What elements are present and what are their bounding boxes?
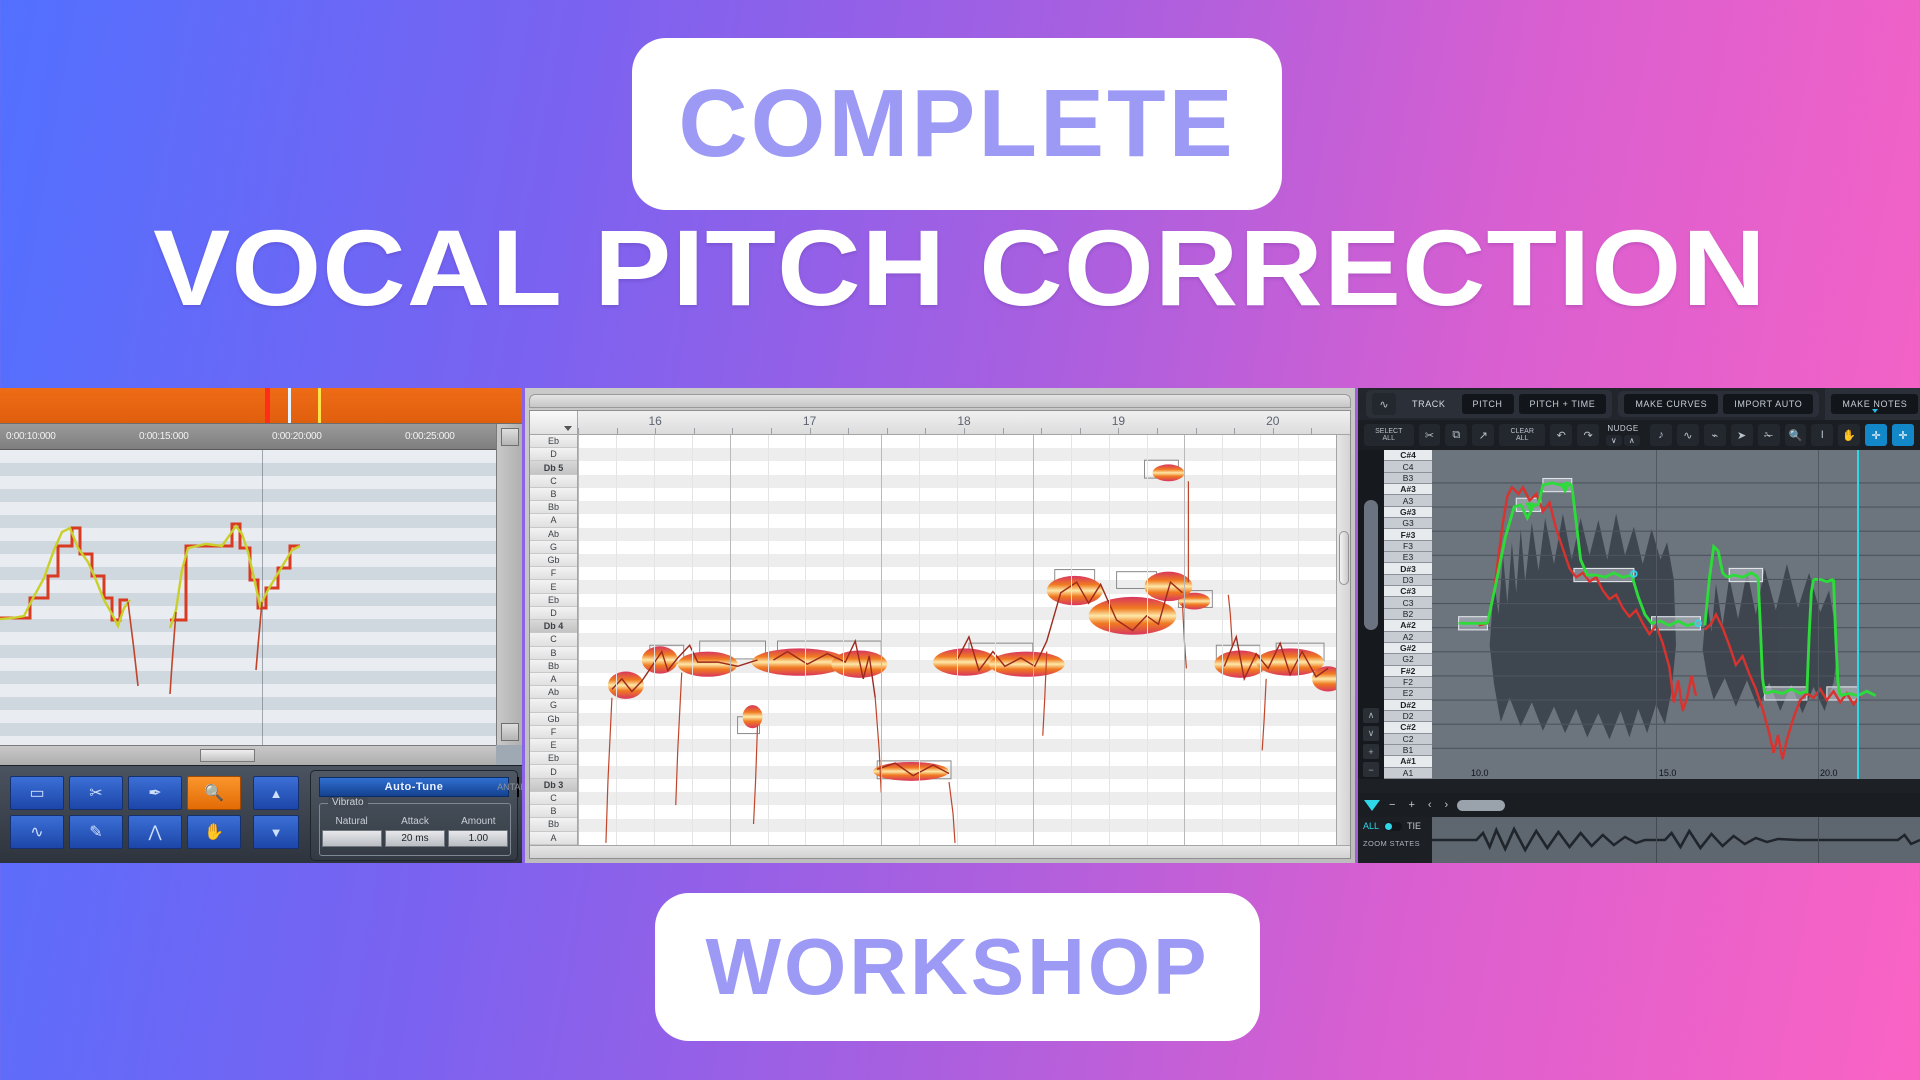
- beat-line: [805, 435, 806, 845]
- ruler-tick: [655, 428, 656, 434]
- beat-line: [692, 435, 693, 845]
- piano-key-asharp1[interactable]: A#1: [1384, 756, 1432, 767]
- waves-tune-vertical-scrollbar[interactable]: ∧ ∨ + −: [1358, 450, 1384, 779]
- beat-line: [957, 435, 958, 845]
- grid-divider: [1656, 817, 1657, 863]
- piano-key-dsharp3[interactable]: D#3: [1384, 563, 1432, 574]
- scrollbar-thumb[interactable]: [1339, 531, 1349, 585]
- piano-key-b[interactable]: B: [530, 647, 577, 660]
- ruler-tick: [1003, 428, 1004, 434]
- beat-line: [1071, 435, 1072, 845]
- hand-tool-icon[interactable]: ✋: [1838, 424, 1860, 446]
- piano-key-fsharp3[interactable]: F#3: [1384, 529, 1432, 540]
- bar-number: 18: [957, 414, 970, 428]
- piano-key-d[interactable]: D: [530, 607, 577, 620]
- ruler-tick: [1080, 428, 1081, 434]
- waveform-side-controls: ALL TIE ZOOM STATES: [1358, 817, 1432, 863]
- import-auto-button[interactable]: IMPORT AUTO: [1723, 394, 1813, 414]
- piano-key-a[interactable]: A: [530, 673, 577, 686]
- timecode-3: 0:00:20:000: [272, 431, 322, 442]
- playhead[interactable]: [1857, 450, 1859, 779]
- piano-key-d2[interactable]: D2: [1384, 711, 1432, 722]
- zoom-in-button[interactable]: +: [1363, 744, 1379, 759]
- track-label: TRACK: [1401, 394, 1457, 414]
- scroll-up-arrow[interactable]: [501, 428, 519, 446]
- zoom-states-label[interactable]: ZOOM STATES: [1363, 839, 1427, 848]
- vibrato-natural-control[interactable]: Natural: [322, 816, 382, 847]
- grid-divider: [1818, 817, 1819, 863]
- nudge-down-button[interactable]: ∨: [1606, 435, 1622, 446]
- scrollbar-thumb[interactable]: [1364, 500, 1378, 630]
- ruler-tick: [1118, 428, 1119, 434]
- auto-tune-ruler[interactable]: 0:00:10:000 0:00:15:000 0:00:20:000 0:00…: [0, 424, 522, 450]
- piano-key-a2[interactable]: A2: [1384, 632, 1432, 643]
- auto-tune-toolbar: ▭ ✂ ✒ 🔍 ∿ ✎ ⋀ ✋: [10, 776, 241, 849]
- undo-icon[interactable]: ↶: [1550, 424, 1572, 446]
- piano-key-gsharp3[interactable]: G#3: [1384, 507, 1432, 518]
- auto-tune-tool-panel: ▭ ✂ ✒ 🔍 ∿ ✎ ⋀ ✋ ▲ ▼ Auto-Tune ANTARES Vi…: [0, 765, 522, 863]
- bar-line: [881, 435, 882, 845]
- auto-tune-pane[interactable]: 0:00:10:000 0:00:15:000 0:00:20:000 0:00…: [0, 388, 522, 863]
- nudge-up-button[interactable]: ∧: [1624, 435, 1640, 446]
- auto-tune-vertical-scrollbar[interactable]: [496, 424, 522, 745]
- piano-key-eb[interactable]: Eb: [530, 435, 577, 448]
- waves-tune-waveform-strip: ALL TIE ZOOM STATES: [1358, 817, 1920, 863]
- vibrato-attack-control[interactable]: Attack 20 ms: [385, 816, 445, 847]
- redo-icon[interactable]: ↷: [1577, 424, 1599, 446]
- ruler-tick: [848, 428, 849, 434]
- vibrato-amount-label: Amount: [448, 816, 508, 827]
- bar-line: [1033, 435, 1034, 845]
- piano-key-c[interactable]: C: [530, 475, 577, 488]
- waves-tune-pane[interactable]: ∿ TRACK PITCH PITCH + TIME MAKE CURVES I…: [1358, 388, 1920, 863]
- auto-tune-pitch-grid[interactable]: [0, 450, 496, 745]
- piano-key-asharp2[interactable]: A#2: [1384, 620, 1432, 631]
- auto-tune-right-panel: Auto-Tune ANTARES Vibrato Natural Attack…: [310, 770, 518, 861]
- ruler-tick: [771, 428, 772, 434]
- scroll-down-arrow[interactable]: [501, 723, 519, 741]
- piano-key-f[interactable]: F: [530, 567, 577, 580]
- piano-key-e3[interactable]: E3: [1384, 552, 1432, 563]
- melodyne-horizontal-scrollbar[interactable]: [530, 845, 1350, 858]
- node-tool-icon[interactable]: ⋀: [128, 815, 182, 849]
- timecode-1: 0:00:10:000: [6, 431, 56, 442]
- beat-line: [995, 435, 996, 845]
- beat-line: [1260, 435, 1261, 845]
- bar-number: 20: [1266, 414, 1279, 428]
- piano-key-b3[interactable]: B3: [1384, 473, 1432, 484]
- piano-key-d3[interactable]: D3: [1384, 575, 1432, 586]
- grid-divider: [1656, 450, 1657, 779]
- melodyne-window: 1617181920 EbDDb 5CBBbAAbGGbFEEbDDb 4CBB…: [525, 388, 1355, 863]
- ruler-tick: [1311, 428, 1312, 434]
- ruler-tick: [694, 428, 695, 434]
- vibrato-amount-control[interactable]: Amount 1.00: [448, 816, 508, 847]
- select-all-button[interactable]: SELECT ALL: [1364, 424, 1414, 446]
- piano-key-asharp3[interactable]: A#3: [1384, 484, 1432, 495]
- piano-key-dsharp2[interactable]: D#2: [1384, 700, 1432, 711]
- piano-key-g[interactable]: G: [530, 699, 577, 712]
- beat-line: [768, 435, 769, 845]
- beat-line: [1222, 435, 1223, 845]
- zoom-out-button[interactable]: −: [1385, 799, 1399, 811]
- timecode-4: 0:00:25:000: [405, 431, 455, 442]
- piano-key-a3[interactable]: A3: [1384, 495, 1432, 506]
- piano-key-c2[interactable]: C2: [1384, 734, 1432, 745]
- bar-line: [730, 435, 731, 845]
- piano-key-bb[interactable]: Bb: [530, 818, 577, 831]
- export-icon[interactable]: ↗: [1472, 424, 1494, 446]
- melodyne-vertical-scrollbar[interactable]: [1336, 435, 1350, 845]
- region-marker-yellow: [318, 388, 321, 423]
- piano-key-f[interactable]: F: [530, 726, 577, 739]
- page-title: VOCAL PITCH CORRECTION: [0, 214, 1920, 322]
- ruler-tick: [617, 428, 618, 434]
- auto-tune-timeline-bar[interactable]: [0, 388, 522, 424]
- ruler-tick: [1041, 428, 1042, 434]
- ruler-tick: [578, 428, 579, 434]
- nudge-down-button[interactable]: ▼: [253, 815, 299, 849]
- time-label-2: 15.0: [1659, 768, 1677, 778]
- badge-complete: COMPLETE: [632, 38, 1282, 210]
- scroll-right-button[interactable]: ›: [1441, 799, 1453, 811]
- melodyne-ruler[interactable]: 1617181920: [530, 411, 1350, 435]
- piano-key-csharp4[interactable]: C#4: [1384, 450, 1432, 461]
- auto-tune-brand-sub: ANTARES: [517, 777, 519, 797]
- piano-key-g2[interactable]: G2: [1384, 654, 1432, 665]
- note-tool-icon[interactable]: ♪: [1650, 424, 1672, 446]
- cut-tool-icon[interactable]: ✁: [1758, 424, 1780, 446]
- tie-label[interactable]: TIE: [1407, 821, 1421, 831]
- hand-tool-icon[interactable]: ✋: [187, 815, 241, 849]
- ruler-tick: [925, 428, 926, 434]
- piano-key-eb[interactable]: Eb: [530, 752, 577, 765]
- auto-tune-pitch-curves: [0, 450, 496, 745]
- duplicate-icon[interactable]: ⧉: [1445, 424, 1467, 446]
- melodyne-titlebar[interactable]: [529, 394, 1351, 408]
- all-label: ALL: [1363, 821, 1379, 831]
- ruler-tick: [1157, 428, 1158, 434]
- melodyne-keyboard[interactable]: EbDDb 5CBBbAAbGGbFEEbDDb 4CBBbAAbGGbFEEb…: [530, 435, 578, 845]
- zoom-out-button[interactable]: −: [1363, 762, 1379, 777]
- vibrato-natural-label: Natural: [322, 816, 382, 827]
- chevron-down-icon: [564, 426, 572, 431]
- pitch-time-button[interactable]: PITCH + TIME: [1519, 394, 1607, 414]
- magnify-tool-icon[interactable]: 🔍: [187, 776, 241, 810]
- pitch-node-alt-icon[interactable]: ✛: [1892, 424, 1914, 446]
- beat-line: [843, 435, 844, 845]
- piano-key-db5[interactable]: Db 5: [530, 461, 577, 474]
- melodyne-note-canvas[interactable]: [578, 435, 1336, 845]
- waves-tune-toolbar-secondary: SELECT ALL ✂ ⧉ ↗ CLEAR ALL ↶ ↷ NUDGE ∨ ∧…: [1358, 420, 1920, 450]
- make-notes-button[interactable]: MAKE NOTES: [1831, 394, 1918, 414]
- waveform-tool-icon[interactable]: ⌁: [1704, 424, 1726, 446]
- badge-workshop: WORKSHOP: [655, 893, 1260, 1041]
- scrollbar-thumb[interactable]: [200, 749, 255, 762]
- piano-key-c[interactable]: C: [530, 792, 577, 805]
- piano-key-gsharp2[interactable]: G#2: [1384, 643, 1432, 654]
- magnify-tool-icon[interactable]: 🔍: [1785, 424, 1807, 446]
- vibrato-attack-label: Attack: [385, 816, 445, 827]
- auto-tune-brand-logo: Auto-Tune: [319, 777, 509, 797]
- bar-number: 19: [1112, 414, 1125, 428]
- piano-key-db4[interactable]: Db 4: [530, 620, 577, 633]
- text-cursor-icon[interactable]: I: [1811, 424, 1833, 446]
- auto-tune-horizontal-scrollbar[interactable]: [0, 745, 496, 765]
- piano-key-c3[interactable]: C3: [1384, 597, 1432, 608]
- scissors-tool-icon[interactable]: ✂: [1419, 424, 1441, 446]
- piano-key-csharp2[interactable]: C#2: [1384, 722, 1432, 733]
- region-marker-white: [288, 388, 291, 423]
- melodyne-ruler-menu[interactable]: [530, 411, 578, 434]
- track-pitch-icon: ∿: [1372, 393, 1396, 415]
- piano-key-b2[interactable]: B2: [1384, 609, 1432, 620]
- waveform-overview[interactable]: [1432, 817, 1920, 863]
- waves-tune-toolbar-primary: ∿ TRACK PITCH PITCH + TIME MAKE CURVES I…: [1358, 388, 1920, 420]
- vibrato-section: Vibrato Natural Attack 20 ms Amount 1.: [319, 803, 511, 856]
- vibrato-attack-value[interactable]: 20 ms: [385, 830, 445, 847]
- pitch-button[interactable]: PITCH: [1462, 394, 1514, 414]
- scroll-up-button[interactable]: ∧: [1363, 708, 1379, 723]
- beat-line: [1147, 435, 1148, 845]
- region-marker-red: [265, 388, 270, 423]
- piano-key-gb[interactable]: Gb: [530, 713, 577, 726]
- piano-key-g3[interactable]: G3: [1384, 518, 1432, 529]
- beat-line: [1298, 435, 1299, 845]
- piano-key-eb[interactable]: Eb: [530, 594, 577, 607]
- ruler-tick: [887, 428, 888, 434]
- ruler-tick: [732, 428, 733, 434]
- piano-key-bb[interactable]: Bb: [530, 660, 577, 673]
- grid-divider: [1818, 450, 1819, 779]
- zoom-in-button[interactable]: +: [1404, 799, 1418, 811]
- draw-tool-icon[interactable]: ✎: [69, 815, 123, 849]
- piano-key-ab[interactable]: Ab: [530, 528, 577, 541]
- beat-line: [654, 435, 655, 845]
- ruler-tick: [1234, 428, 1235, 434]
- collapse-triangle-icon[interactable]: [1364, 800, 1380, 811]
- bar-line: [578, 435, 579, 845]
- piano-key-b1[interactable]: B1: [1384, 745, 1432, 756]
- piano-key-csharp3[interactable]: C#3: [1384, 586, 1432, 597]
- curve-tool-icon[interactable]: ∿: [10, 815, 64, 849]
- melodyne-pane[interactable]: 1617181920 EbDDb 5CBBbAAbGGbFEEbDDb 4CBB…: [522, 388, 1358, 863]
- waveform-overview-shape: [1432, 817, 1920, 863]
- ruler-tick: [810, 428, 811, 434]
- piano-key-d[interactable]: D: [530, 448, 577, 461]
- piano-key-g[interactable]: G: [530, 541, 577, 554]
- piano-key-e2[interactable]: E2: [1384, 688, 1432, 699]
- melodyne-bar-numbers: 1617181920: [578, 411, 1350, 434]
- scissors-tool-icon[interactable]: ✂: [69, 776, 123, 810]
- auto-tune-nudge-group: ▲ ▼: [253, 776, 299, 849]
- piano-key-e[interactable]: E: [530, 580, 577, 593]
- waves-tune-pitch-canvas[interactable]: 10.0 15.0 20.0: [1432, 450, 1920, 779]
- waves-tune-zoom-bar: − + ‹ ›: [1358, 793, 1920, 817]
- nudge-label: NUDGE: [1607, 424, 1638, 433]
- waves-tune-keyboard[interactable]: C#4C4B3A#3A3G#3G3F#3F3E3D#3D3C#3C3B2A#2A…: [1384, 450, 1432, 779]
- time-label-3: 20.0: [1820, 768, 1838, 778]
- ruler-tick: [964, 428, 965, 434]
- scroll-down-button[interactable]: ∨: [1363, 726, 1379, 741]
- piano-key-a[interactable]: A: [530, 832, 577, 845]
- piano-key-c[interactable]: C: [530, 633, 577, 646]
- beat-line: [1109, 435, 1110, 845]
- all-toggle[interactable]: [1384, 822, 1402, 831]
- zoom-range-handle[interactable]: [1457, 800, 1505, 811]
- piano-key-f2[interactable]: F2: [1384, 677, 1432, 688]
- ruler-tick: [1273, 428, 1274, 434]
- piano-key-a[interactable]: A: [530, 514, 577, 527]
- piano-key-ab[interactable]: Ab: [530, 686, 577, 699]
- vibrato-amount-value[interactable]: 1.00: [448, 830, 508, 847]
- make-curves-button[interactable]: MAKE CURVES: [1624, 394, 1718, 414]
- piano-key-e[interactable]: E: [530, 739, 577, 752]
- piano-key-db3[interactable]: Db 3: [530, 779, 577, 792]
- piano-key-d[interactable]: D: [530, 765, 577, 778]
- piano-key-b[interactable]: B: [530, 805, 577, 818]
- pen-tool-icon[interactable]: ✒: [128, 776, 182, 810]
- screenshot-strip: 0:00:10:000 0:00:15:000 0:00:20:000 0:00…: [0, 388, 1920, 863]
- piano-key-gb[interactable]: Gb: [530, 554, 577, 567]
- ruler-tick: [1196, 428, 1197, 434]
- vibrato-natural-value[interactable]: [322, 830, 382, 847]
- waves-tune-pitch-curves: [1432, 450, 1920, 779]
- piano-key-f3[interactable]: F3: [1384, 541, 1432, 552]
- arrow-tool-icon[interactable]: ➤: [1731, 424, 1753, 446]
- time-label-1: 10.0: [1471, 768, 1489, 778]
- nudge-up-button[interactable]: ▲: [253, 776, 299, 810]
- bar-number: 17: [803, 414, 816, 428]
- clear-all-button[interactable]: CLEAR ALL: [1499, 424, 1545, 446]
- vibrato-section-label: Vibrato: [328, 797, 368, 808]
- piano-key-b[interactable]: B: [530, 488, 577, 501]
- piano-key-c4[interactable]: C4: [1384, 461, 1432, 472]
- piano-key-a1[interactable]: A1: [1384, 768, 1432, 779]
- timecode-2: 0:00:15:000: [139, 431, 189, 442]
- piano-key-bb[interactable]: Bb: [530, 501, 577, 514]
- beat-line: [616, 435, 617, 845]
- bar-number: 16: [649, 414, 662, 428]
- scroll-left-button[interactable]: ‹: [1424, 799, 1436, 811]
- piano-key-fsharp2[interactable]: F#2: [1384, 666, 1432, 677]
- curve-tool-icon[interactable]: ∿: [1677, 424, 1699, 446]
- beat-line: [919, 435, 920, 845]
- line-tool-icon[interactable]: ▭: [10, 776, 64, 810]
- bar-line: [1184, 435, 1185, 845]
- pitch-node-icon[interactable]: ✛: [1865, 424, 1887, 446]
